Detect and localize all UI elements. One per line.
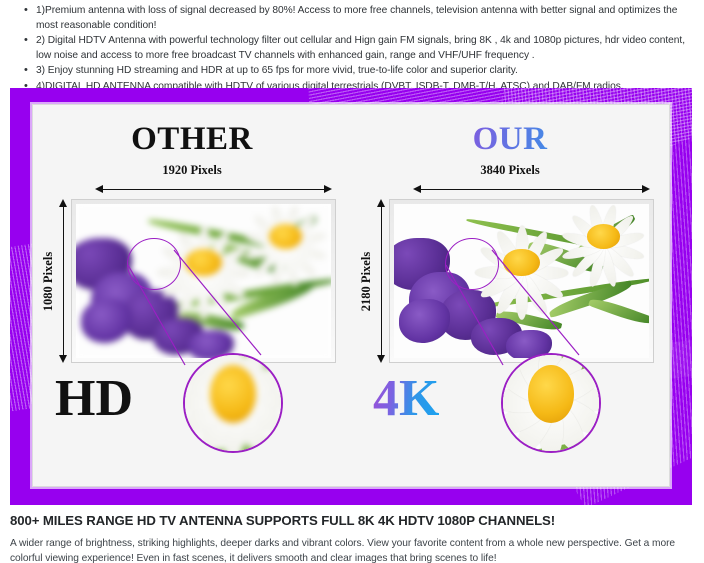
pane-other: OTHER 1920 Pixels 1080 Pixels [33, 105, 351, 486]
flower-scene-sharp [394, 204, 649, 358]
pane-our: OUR 3840 Pixels 2180 Pixels [351, 105, 669, 486]
feature-bullet-list: 1)Premium antenna with loss of signal de… [0, 0, 704, 88]
height-label-other: 1080 Pixels [42, 201, 56, 361]
comparison-card: OTHER 1920 Pixels 1080 Pixels [32, 104, 670, 487]
highlight-circle-our [445, 238, 499, 290]
photo-other [76, 204, 331, 358]
resolution-label-4k: 4K [373, 373, 439, 425]
footer-section: 800+ MILES RANGE HD TV ANTENNA SUPPORTS … [0, 505, 704, 563]
magnifier-other [183, 353, 283, 453]
resolution-label-hd: HD [55, 373, 133, 425]
list-item: 1)Premium antenna with loss of signal de… [24, 4, 698, 33]
pane-title-our: OUR [351, 121, 669, 158]
highlight-circle-other [127, 238, 181, 290]
flower-scene-blurred [76, 204, 331, 358]
list-item: 2) Digital HDTV Antenna with powerful te… [24, 34, 698, 63]
height-label-our: 2180 Pixels [360, 201, 374, 361]
footer-heading: 800+ MILES RANGE HD TV ANTENNA SUPPORTS … [10, 513, 694, 528]
photo-frame-other [71, 199, 336, 363]
list-item: 3) Enjoy stunning HD streaming and HDR a… [24, 64, 698, 79]
comparison-banner: OTHER 1920 Pixels 1080 Pixels [10, 88, 692, 505]
height-arrow-icon [59, 199, 68, 363]
product-description-page: 1)Premium antenna with loss of signal de… [0, 0, 704, 563]
width-arrow-icon [413, 185, 650, 194]
flower-scene-magnified-sharp [501, 353, 601, 453]
photo-our [394, 204, 649, 358]
footer-paragraph: A wider range of brightness, striking hi… [10, 537, 694, 563]
width-label-our: 3840 Pixels [351, 163, 669, 178]
magnifier-our [501, 353, 601, 453]
width-label-other: 1920 Pixels [33, 163, 351, 178]
height-arrow-icon [377, 199, 386, 363]
width-arrow-icon [95, 185, 332, 194]
flower-scene-magnified-blurred [183, 353, 283, 453]
pane-title-other: OTHER [33, 121, 351, 158]
photo-frame-our [389, 199, 654, 363]
